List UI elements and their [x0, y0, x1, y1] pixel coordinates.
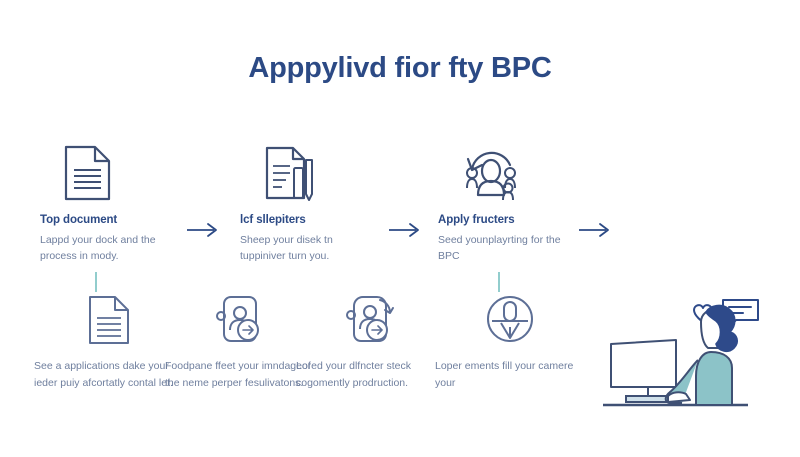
- step-1-description: Lappd your dock and the process in mody.: [40, 232, 180, 265]
- substep-3-description: Lored your dlfncter steck cogomently pro…: [296, 358, 446, 392]
- substep-2-description: Foodpane ffeet your imndageof the neme p…: [165, 358, 315, 392]
- substep-4[interactable]: Loper ements fill your camere your: [435, 292, 585, 392]
- substep-1-description: See a applications dake your ieder puiy …: [34, 358, 184, 392]
- arrow-step-1-to-2: [186, 222, 220, 238]
- step-2[interactable]: lcf sllepiters Sheep your disek tn tuppi…: [240, 142, 415, 265]
- document-pencil-icon: [240, 142, 415, 204]
- substep-2[interactable]: Foodpane ffeet your imndageof the neme p…: [165, 292, 315, 392]
- substep-1[interactable]: See a applications dake your ieder puiy …: [34, 292, 184, 392]
- person-at-computer-illustration: [598, 288, 788, 420]
- substep-4-description: Loper ements fill your camere your: [435, 358, 585, 392]
- team-network-icon: [438, 142, 613, 204]
- steps-row: Top document Lappd your dock and the pro…: [0, 142, 800, 272]
- infographic-canvas: Apppylivd fior fty BPC Top document Lapp…: [0, 0, 800, 457]
- person-badge-icon: [165, 292, 315, 348]
- document-icon: [40, 142, 215, 204]
- step-1[interactable]: Top document Lappd your dock and the pro…: [40, 142, 215, 265]
- substep-3[interactable]: Lored your dlfncter steck cogomently pro…: [296, 292, 446, 392]
- step-2-description: Sheep your disek tn tuppiniver turn you.: [240, 232, 380, 265]
- step-3-description: Seed younplayrting for the BPC: [438, 232, 578, 265]
- page-title: Apppylivd fior fty BPC: [0, 52, 800, 85]
- connector-tick-left: [95, 272, 97, 292]
- arrow-step-3-to-end: [578, 222, 612, 238]
- arrow-step-2-to-3: [388, 222, 422, 238]
- avatar-circle-icon: [435, 292, 585, 348]
- monitor-icon: [611, 340, 676, 402]
- step-3[interactable]: Apply fructers Seed younplayrting for th…: [438, 142, 613, 265]
- connector-tick-right: [498, 272, 500, 292]
- document-icon: [34, 292, 184, 348]
- person-refresh-badge-icon: [296, 292, 446, 348]
